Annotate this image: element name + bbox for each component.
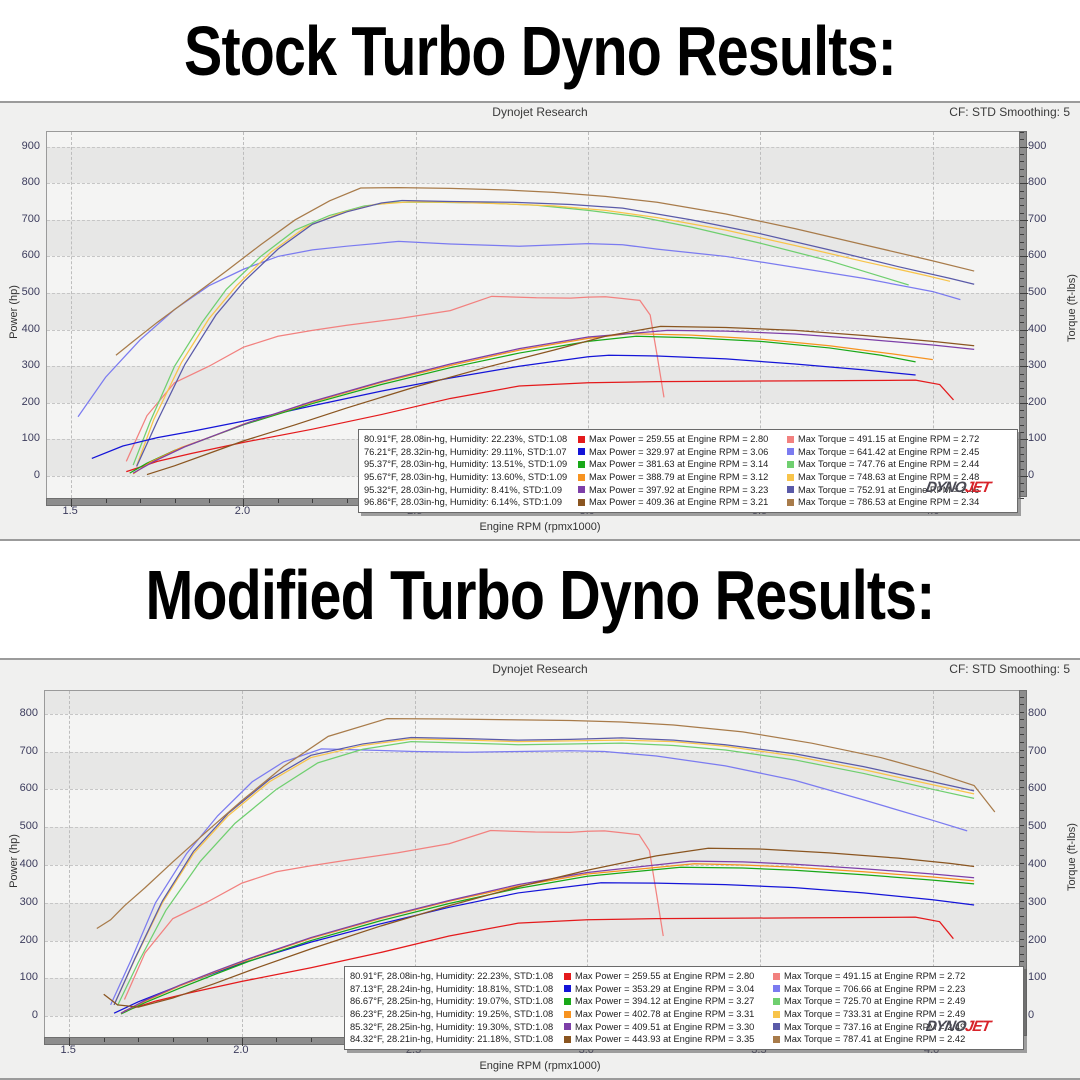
y-tick-label-left: 600 xyxy=(8,249,40,261)
y-tick-label-right: 700 xyxy=(1028,213,1062,225)
ruler-tick xyxy=(1020,810,1024,811)
ruler-tick xyxy=(1020,908,1024,909)
ruler-tick xyxy=(1020,719,1024,720)
legend-swatch-torque xyxy=(787,461,794,468)
ruler-tick xyxy=(1020,242,1024,243)
y-tick-label-left: 500 xyxy=(6,820,38,832)
y-tick-label-left: 800 xyxy=(8,176,40,188)
ruler-tick xyxy=(311,1038,312,1042)
ruler-tick xyxy=(1020,234,1024,235)
ruler-tick xyxy=(1020,447,1024,448)
ruler-tick xyxy=(104,1038,105,1042)
legend-conditions: 80.91°F, 28.08in-hg, Humidity: 22.23%, S… xyxy=(350,971,562,981)
y-tick-label-right: 0 xyxy=(1028,1009,1062,1021)
ruler-tick xyxy=(276,1038,277,1042)
legend-max-torque: Max Torque = 706.66 at Engine RPM = 2.23 xyxy=(784,984,965,994)
ruler-tick xyxy=(1020,469,1024,470)
dynojet-research-label: Dynojet Research xyxy=(0,105,1080,119)
ruler-tick xyxy=(1020,946,1024,947)
plot-area-stock: Power (hp)Torque (ft-lbs)001001002002003… xyxy=(0,125,1080,539)
y-tick-label-right: 600 xyxy=(1028,782,1062,794)
legend-max-torque: Max Torque = 786.53 at Engine RPM = 2.34 xyxy=(798,497,979,507)
y-tick-label-right: 800 xyxy=(1028,707,1062,719)
legend-max-power: Max Power = 409.36 at Engine RPM = 3.21 xyxy=(589,497,785,507)
ruler-tick xyxy=(1020,286,1024,287)
ruler-tick xyxy=(1020,249,1024,250)
dyno-header-stock: Dynojet Research CF: STD Smoothing: 5 xyxy=(0,103,1080,125)
ruler-tick xyxy=(1020,787,1024,788)
legend-swatch-torque xyxy=(787,436,794,443)
ruler-tick xyxy=(1020,886,1024,887)
ruler-tick xyxy=(1020,388,1024,389)
legend-swatch-torque xyxy=(787,486,794,493)
dyno-chart-modified: Dynojet Research CF: STD Smoothing: 5 Po… xyxy=(0,658,1080,1080)
page-title-modified: Modified Turbo Dyno Results: xyxy=(97,560,983,640)
ruler-tick xyxy=(1020,315,1024,316)
dynojet-logo-dyno: DYNO xyxy=(925,479,967,496)
legend-swatch-torque xyxy=(773,1023,780,1030)
legend-max-power: Max Power = 402.78 at Engine RPM = 3.31 xyxy=(575,1009,771,1019)
legend-max-torque: Max Torque = 787.41 at Engine RPM = 2.42 xyxy=(784,1034,965,1044)
ruler-tick xyxy=(1020,322,1024,323)
ruler-tick xyxy=(1020,352,1024,353)
y-tick-label-left: 600 xyxy=(6,782,38,794)
y-tick-label-right: 300 xyxy=(1028,359,1062,371)
y-tick-label-left: 300 xyxy=(6,896,38,908)
ruler-tick xyxy=(1020,863,1024,864)
dyno-header-modified: Dynojet Research CF: STD Smoothing: 5 xyxy=(0,660,1080,682)
legend-swatch-torque xyxy=(773,1036,780,1043)
legend-max-power: Max Power = 353.29 at Engine RPM = 3.04 xyxy=(575,984,771,994)
legend-swatch-torque xyxy=(773,985,780,992)
y-tick-label-right: 100 xyxy=(1028,432,1062,444)
y-tick-label-right: 400 xyxy=(1028,323,1062,335)
ruler-tick xyxy=(1020,939,1024,940)
ruler-tick xyxy=(1020,916,1024,917)
legend-swatch-torque xyxy=(787,499,794,506)
legend-swatch-torque xyxy=(773,973,780,980)
y-tick-label-left: 100 xyxy=(8,432,40,444)
legend-swatch-torque xyxy=(787,448,794,455)
dynojet-research-label: Dynojet Research xyxy=(0,662,1080,676)
ruler-tick xyxy=(1020,712,1024,713)
ruler-tick xyxy=(278,499,279,503)
y-tick-label-left: 700 xyxy=(8,213,40,225)
torque-curve-run-4 xyxy=(114,739,974,1005)
y-tick-label-right: 600 xyxy=(1028,249,1062,261)
dyno-comparison-page: Stock Turbo Dyno Results: Dynojet Resear… xyxy=(0,0,1080,1080)
legend-swatch-power xyxy=(578,474,585,481)
y-tick-label-right: 200 xyxy=(1028,934,1062,946)
ruler-tick xyxy=(69,1038,70,1046)
ruler-tick xyxy=(1020,893,1024,894)
ruler-tick xyxy=(1020,727,1024,728)
legend-conditions: 85.32°F, 28.25in-hg, Humidity: 19.30%, S… xyxy=(350,1022,562,1032)
ruler-tick xyxy=(1020,498,1024,499)
legend-max-torque: Max Torque = 725.70 at Engine RPM = 2.49 xyxy=(784,996,965,1006)
torque-curve-run-2 xyxy=(78,241,960,416)
ruler-tick xyxy=(347,499,348,503)
y-tick-label-left: 0 xyxy=(8,469,40,481)
y-tick-label-left: 400 xyxy=(8,323,40,335)
y-tick-label-right: 100 xyxy=(1028,971,1062,983)
y-tick-label-left: 900 xyxy=(8,140,40,152)
legend-swatch-torque xyxy=(773,1011,780,1018)
ruler-tick xyxy=(1020,803,1024,804)
ruler-tick xyxy=(1020,417,1024,418)
ruler-tick xyxy=(1020,871,1024,872)
ruler-tick xyxy=(1020,954,1024,955)
ruler-tick xyxy=(1020,697,1024,698)
ruler-tick xyxy=(1020,772,1024,773)
y-tick-label-left: 200 xyxy=(6,934,38,946)
legend-swatch-power xyxy=(578,461,585,468)
y-tick-label-left: 0 xyxy=(6,1009,38,1021)
ruler-tick xyxy=(1020,439,1028,440)
ruler-tick xyxy=(1020,374,1024,375)
legend-max-power: Max Power = 381.63 at Engine RPM = 3.14 xyxy=(589,459,785,469)
ruler-tick xyxy=(1020,483,1024,484)
legend-conditions: 76.21°F, 28.32in-hg, Humidity: 29.11%, S… xyxy=(364,447,576,457)
legend-row: 76.21°F, 28.32in-hg, Humidity: 29.11%, S… xyxy=(364,446,1012,459)
x-tick-label: 1.5 xyxy=(61,1044,76,1056)
ruler-tick xyxy=(1020,256,1028,257)
ruler-tick xyxy=(312,499,313,503)
ruler-tick xyxy=(1020,308,1024,309)
y-tick-label-left: 400 xyxy=(6,858,38,870)
legend-conditions: 86.67°F, 28.25in-hg, Humidity: 19.07%, S… xyxy=(350,996,562,1006)
y-tick-label-right: 500 xyxy=(1028,286,1062,298)
legend-conditions: 87.13°F, 28.24in-hg, Humidity: 18.81%, S… xyxy=(350,984,562,994)
ruler-tick xyxy=(106,499,107,503)
legend-swatch-power xyxy=(564,998,571,1005)
ruler-tick xyxy=(1020,848,1024,849)
legend-swatch-torque xyxy=(773,998,780,1005)
y-tick-label-left: 700 xyxy=(6,745,38,757)
legend-swatch-power xyxy=(564,985,571,992)
legend-swatch-power xyxy=(564,1036,571,1043)
ruler-tick xyxy=(1020,454,1024,455)
ruler-tick xyxy=(1020,344,1024,345)
ruler-tick xyxy=(1020,366,1028,367)
y-tick-label-right: 900 xyxy=(1028,140,1062,152)
legend-row: 86.67°F, 28.25in-hg, Humidity: 19.07%, S… xyxy=(350,995,1018,1008)
ruler-tick xyxy=(1020,924,1024,925)
y-axis-label-torque: Torque (ft-lbs) xyxy=(1066,282,1078,342)
legend-row: 80.91°F, 28.08in-hg, Humidity: 22.23%, S… xyxy=(350,970,1018,983)
y-tick-label-left: 500 xyxy=(8,286,40,298)
legend-conditions: 96.86°F, 28.03in-hg, Humidity: 6.14%, ST… xyxy=(364,497,576,507)
dyno-chart-stock: Dynojet Research CF: STD Smoothing: 5 Po… xyxy=(0,101,1080,541)
legend-conditions: 95.67°F, 28.03in-hg, Humidity: 13.60%, S… xyxy=(364,472,576,482)
ruler-tick xyxy=(1020,410,1024,411)
ruler-tick xyxy=(1020,183,1028,184)
torque-curve-run-5 xyxy=(114,738,974,1005)
dynojet-logo-jet: JET xyxy=(964,1018,992,1035)
legend-row: 96.86°F, 28.03in-hg, Humidity: 6.14%, ST… xyxy=(364,496,1012,509)
ruler-tick xyxy=(1020,750,1024,751)
ruler-tick xyxy=(1020,425,1024,426)
y-tick-label-left: 200 xyxy=(8,396,40,408)
y-tick-label-right: 500 xyxy=(1028,820,1062,832)
legend-max-power: Max Power = 329.97 at Engine RPM = 3.06 xyxy=(589,447,785,457)
torque-curve-run-4 xyxy=(137,202,950,466)
ruler-tick xyxy=(1020,271,1024,272)
ruler-tick xyxy=(1020,878,1024,879)
legend-max-power: Max Power = 394.12 at Engine RPM = 3.27 xyxy=(575,996,771,1006)
ruler-tick xyxy=(209,499,210,503)
legend-max-power: Max Power = 409.51 at Engine RPM = 3.30 xyxy=(575,1022,771,1032)
x-tick-label: 2.0 xyxy=(235,505,250,517)
legend-max-power: Max Power = 388.79 at Engine RPM = 3.12 xyxy=(589,472,785,482)
legend-swatch-power xyxy=(564,1011,571,1018)
ruler-tick xyxy=(1020,491,1024,492)
ruler-tick xyxy=(1020,765,1024,766)
ruler-tick xyxy=(1020,191,1024,192)
ruler-tick xyxy=(1020,825,1024,826)
y-tick-label-left: 800 xyxy=(6,707,38,719)
dynojet-logo-jet: JET xyxy=(964,479,992,496)
legend-swatch-power xyxy=(578,448,585,455)
legend-conditions: 95.37°F, 28.03in-hg, Humidity: 13.51%, S… xyxy=(364,459,576,469)
y-tick-label-left: 300 xyxy=(8,359,40,371)
y-axis-label-torque: Torque (ft-lbs) xyxy=(1066,831,1078,891)
legend-row: 80.91°F, 28.08in-hg, Humidity: 22.23%, S… xyxy=(364,433,1012,446)
ruler-tick xyxy=(173,1038,174,1042)
y-tick-label-right: 800 xyxy=(1028,176,1062,188)
legend-row: 95.67°F, 28.03in-hg, Humidity: 13.60%, S… xyxy=(364,471,1012,484)
legend-max-power: Max Power = 397.92 at Engine RPM = 3.23 xyxy=(589,485,785,495)
ruler-tick xyxy=(242,1038,243,1046)
legend-max-power: Max Power = 259.55 at Engine RPM = 2.80 xyxy=(589,434,785,444)
ruler-tick xyxy=(1020,704,1024,705)
ruler-tick xyxy=(1020,264,1024,265)
y-tick-label-right: 0 xyxy=(1028,469,1062,481)
ruler-tick xyxy=(1020,176,1024,177)
ruler-tick xyxy=(1020,818,1024,819)
legend-swatch-power xyxy=(578,436,585,443)
legend-row: 95.32°F, 28.03in-hg, Humidity: 8.41%, ST… xyxy=(364,483,1012,496)
y-tick-label-right: 300 xyxy=(1028,896,1062,908)
ruler-tick xyxy=(1020,757,1024,758)
legend-max-torque: Max Torque = 747.76 at Engine RPM = 2.44 xyxy=(798,459,979,469)
ruler-tick xyxy=(1020,198,1024,199)
ruler-tick xyxy=(1020,961,1024,962)
ruler-tick xyxy=(207,1038,208,1042)
ruler-tick xyxy=(1020,840,1024,841)
ruler-tick xyxy=(1020,780,1024,781)
legend-conditions: 80.91°F, 28.08in-hg, Humidity: 22.23%, S… xyxy=(364,434,576,444)
legend-max-torque: Max Torque = 491.15 at Engine RPM = 2.72 xyxy=(784,971,965,981)
dynojet-logo: DYNOJET xyxy=(925,1018,992,1035)
ruler-tick xyxy=(1020,403,1028,404)
legend-swatch-power xyxy=(578,499,585,506)
ruler-tick xyxy=(71,499,72,507)
ruler-tick xyxy=(1020,169,1024,170)
ruler-tick xyxy=(1020,293,1028,294)
ruler-tick xyxy=(1020,734,1024,735)
ruler-tick xyxy=(1020,476,1028,477)
y-tick-label-right: 700 xyxy=(1028,745,1062,757)
ruler-tick xyxy=(1020,461,1024,462)
ruler-tick xyxy=(1020,330,1028,331)
dynojet-logo: DYNOJET xyxy=(925,479,992,496)
legend-swatch-power xyxy=(564,1023,571,1030)
x-tick-label: 1.5 xyxy=(62,505,77,517)
page-title-stock: Stock Turbo Dyno Results: xyxy=(97,16,983,94)
ruler-tick xyxy=(1020,855,1024,856)
y-tick-label-left: 100 xyxy=(6,971,38,983)
legend-max-power: Max Power = 259.55 at Engine RPM = 2.80 xyxy=(575,971,771,981)
ruler-tick xyxy=(1020,227,1024,228)
legend-row: 85.32°F, 28.25in-hg, Humidity: 19.30%, S… xyxy=(350,1020,1018,1033)
legend-conditions: 95.32°F, 28.03in-hg, Humidity: 8.41%, ST… xyxy=(364,485,576,495)
ruler-tick xyxy=(1020,154,1024,155)
ruler-tick xyxy=(1020,381,1024,382)
ruler-tick xyxy=(1020,213,1024,214)
cf-smoothing-label: CF: STD Smoothing: 5 xyxy=(949,105,1070,119)
ruler-tick xyxy=(1020,795,1024,796)
legend-max-power: Max Power = 443.93 at Engine RPM = 3.35 xyxy=(575,1034,771,1044)
legend-box: 80.91°F, 28.08in-hg, Humidity: 22.23%, S… xyxy=(358,429,1018,513)
legend-swatch-power xyxy=(564,973,571,980)
legend-swatch-torque xyxy=(787,474,794,481)
legend-row: 87.13°F, 28.24in-hg, Humidity: 18.81%, S… xyxy=(350,983,1018,996)
ruler-tick xyxy=(1020,300,1024,301)
ruler-tick xyxy=(1020,278,1024,279)
legend-conditions: 84.32°F, 28.21in-hg, Humidity: 21.18%, S… xyxy=(350,1034,562,1044)
ruler-tick xyxy=(1020,359,1024,360)
torque-curve-run-5 xyxy=(137,200,975,466)
y-tick-label-right: 200 xyxy=(1028,396,1062,408)
legend-conditions: 86.23°F, 28.25in-hg, Humidity: 19.25%, S… xyxy=(350,1009,562,1019)
ruler-tick xyxy=(1020,132,1024,133)
ruler-tick xyxy=(1020,396,1024,397)
ruler-tick xyxy=(1020,931,1024,932)
ruler-tick xyxy=(1020,220,1028,221)
ruler-tick xyxy=(1020,833,1024,834)
legend-row: 86.23°F, 28.25in-hg, Humidity: 19.25%, S… xyxy=(350,1008,1018,1021)
ruler-tick xyxy=(1020,901,1024,902)
ruler-tick xyxy=(1020,139,1024,140)
ruler-tick xyxy=(175,499,176,503)
legend-row: 84.32°F, 28.21in-hg, Humidity: 21.18%, S… xyxy=(350,1033,1018,1046)
x-axis-label: Engine RPM (rpmx1000) xyxy=(0,1060,1080,1072)
ruler-tick xyxy=(1020,432,1024,433)
vertical-ruler-right xyxy=(1019,131,1027,497)
ruler-tick xyxy=(1020,205,1024,206)
ruler-tick xyxy=(1020,161,1024,162)
legend-box: 80.91°F, 28.08in-hg, Humidity: 22.23%, S… xyxy=(344,966,1024,1050)
ruler-tick xyxy=(243,499,244,507)
dynojet-logo-dyno: DYNO xyxy=(925,1018,967,1035)
ruler-tick xyxy=(1020,337,1024,338)
ruler-tick xyxy=(138,1038,139,1042)
y-tick-label-right: 400 xyxy=(1028,858,1062,870)
plot-area-modified: Power (hp)Torque (ft-lbs)001001002002003… xyxy=(0,682,1080,1078)
x-axis-label: Engine RPM (rpmx1000) xyxy=(0,521,1080,533)
legend-max-torque: Max Torque = 641.42 at Engine RPM = 2.45 xyxy=(798,447,979,457)
ruler-tick xyxy=(1020,147,1028,148)
cf-smoothing-label: CF: STD Smoothing: 5 xyxy=(949,662,1070,676)
torque-curve-run-6 xyxy=(97,719,995,929)
legend-row: 95.37°F, 28.03in-hg, Humidity: 13.51%, S… xyxy=(364,458,1012,471)
legend-swatch-power xyxy=(578,486,585,493)
ruler-tick xyxy=(1020,742,1024,743)
x-tick-label: 2.0 xyxy=(233,1044,248,1056)
ruler-tick xyxy=(140,499,141,503)
legend-max-torque: Max Torque = 491.15 at Engine RPM = 2.72 xyxy=(798,434,979,444)
